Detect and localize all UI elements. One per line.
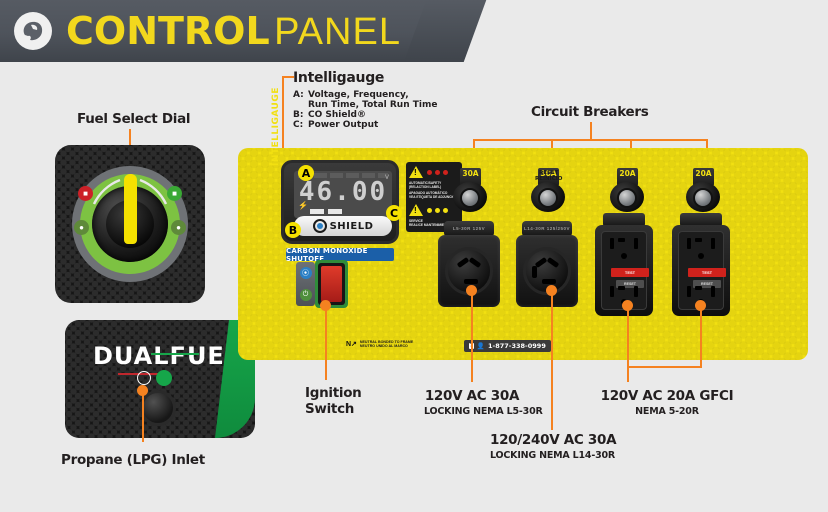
intelligauge-side-label: INTELLIGAUGE	[271, 96, 281, 166]
callout-propane-inlet: Propane (LPG) Inlet	[61, 452, 205, 468]
callout-ignition-switch: Ignition Switch	[305, 385, 362, 417]
callout-ignition-line-1: Ignition	[305, 385, 362, 401]
breaker-knob-2[interactable]	[538, 188, 558, 208]
callout-outlet-gfci: 120V AC 20A GFCI NEMA 5-20R	[597, 388, 737, 417]
dual-fuel-panel: DUALFUEL	[65, 320, 255, 438]
co-shield-brand: SHIELD	[330, 221, 374, 232]
intelligauge-key-c: C:	[293, 120, 308, 130]
intelligauge-item-1: Run Time, Total Run Time	[293, 100, 437, 110]
callout-line-gfci-1	[627, 305, 629, 382]
callout-line-outlet-30a	[471, 290, 473, 382]
warning-triangle-icon	[409, 166, 423, 178]
breaker-knob-3[interactable]	[617, 188, 637, 208]
reset-note-es: REINICIO	[535, 176, 562, 182]
ignition-rocker-button[interactable]	[321, 266, 342, 302]
badge-b: B	[285, 222, 301, 238]
choke-icon: ⦿	[300, 267, 312, 279]
dual-fuel-green-arrow-icon	[151, 353, 199, 355]
outlet-l5-30r[interactable]: L5-30R 125V	[438, 225, 500, 313]
circuit-breaker-3[interactable]: 20A	[610, 172, 644, 212]
page-header: CONTROL PANEL	[0, 0, 445, 62]
neutral-note-es: NEUTRO UNIDO AL MARCO	[360, 344, 413, 348]
lightning-icon: ⚡	[298, 201, 308, 210]
intelligauge-item-0: A: Voltage, Frequency,	[293, 90, 437, 100]
lcd-bar-2	[328, 209, 342, 214]
dual-fuel-logo: DUALFUEL	[93, 342, 241, 370]
warning-dots-row-1	[427, 170, 448, 175]
callout-outlet-gfci-sub: NEMA 5-20R	[597, 406, 737, 417]
dual-fuel-word-2: FUEL	[170, 342, 242, 370]
header-title-light: PANEL	[274, 11, 401, 53]
callout-line-outlet-l14	[551, 290, 553, 430]
brand-logo	[14, 12, 52, 50]
bison-head-icon	[19, 17, 47, 45]
callout-ignition-line-2: Switch	[305, 401, 362, 417]
callout-line-ignition	[325, 305, 327, 380]
callout-line-gfci-join	[627, 366, 702, 368]
person-icon: 👤	[477, 342, 485, 350]
lcd-bar-1	[310, 209, 324, 214]
power-icon: ⏻	[300, 289, 312, 301]
callout-line-propane	[142, 390, 144, 442]
intelligauge-text-a2: Run Time, Total Run Time	[308, 100, 437, 110]
co-shield-mark-icon	[313, 219, 327, 233]
callout-outlet-l14-title: 120/240V AC 30A	[490, 432, 614, 448]
callout-outlet-l14-sub: LOCKING NEMA L14-30R	[490, 450, 614, 461]
callout-line-gfci-2	[700, 305, 702, 367]
warning-text-es-2: VEA ETIQUETA DE ADJUNCIÓN	[409, 195, 459, 199]
control-panel-diagram: CONTROL PANEL Fuel Select Dial Intelliga…	[0, 0, 828, 512]
neutral-ground-icon: N↗	[346, 340, 357, 348]
intelligauge-key-a: A:	[293, 90, 308, 100]
ignition-icon-strip: ⦿ ⏻	[296, 262, 315, 306]
header-title: CONTROL PANEL	[66, 9, 401, 54]
callout-fuel-select-dial: Fuel Select Dial	[77, 111, 190, 127]
badge-a: A	[298, 165, 314, 181]
intelligauge-text-a1: Voltage, Frequency,	[308, 90, 409, 100]
generator-control-panel: INTELLIGAUGE 46.00 V ⚡ SHIELD A B C CARB…	[238, 148, 808, 360]
breaker-knob-4[interactable]	[693, 188, 713, 208]
fuel-dial[interactable]: ■ ■ ● ●	[72, 166, 188, 282]
lcd-value: 46.00	[294, 177, 392, 207]
callout-line-breakers-stem	[590, 122, 592, 140]
callout-outlet-gfci-title: 120V AC 20A GFCI	[597, 388, 737, 404]
outlet-l5-30r-body	[438, 235, 500, 307]
outlet-l14-30r[interactable]: L14-30R 125/250V	[516, 225, 578, 313]
callout-line-breakers-bracket	[473, 139, 707, 141]
header-title-bold: CONTROL	[66, 9, 270, 53]
dual-fuel-icons	[137, 370, 172, 386]
warning-dots-row-2	[427, 208, 448, 213]
fuel-gauge-icon	[137, 371, 151, 385]
intelligauge-item-2: B: CO Shield®	[293, 110, 437, 120]
callout-outlet-30a-sub: LOCKING NEMA L5-30R	[424, 406, 520, 417]
circuit-breaker-1[interactable]: 30A	[453, 172, 487, 212]
badge-c: C	[386, 205, 402, 221]
intelligauge-key-b: B:	[293, 110, 308, 120]
callout-outlet-30a-title: 120V AC 30A	[424, 388, 520, 404]
intelligauge-text-b: CO Shield®	[308, 110, 366, 120]
lcd-unit: V	[385, 175, 389, 181]
callout-outlet-30a: 120V AC 30A LOCKING NEMA L5-30R	[424, 388, 520, 417]
ignition-switch-frame	[315, 260, 348, 308]
dual-fuel-word-1: DUAL	[93, 342, 170, 370]
outlet-l14-30r-body	[516, 235, 578, 307]
ignition-switch-bezel	[318, 263, 345, 305]
callout-outlet-l14: 120/240V AC 30A LOCKING NEMA L14-30R	[490, 432, 614, 461]
support-phone-number: 1-877-338-0999	[488, 342, 546, 350]
breaker-reset-note: RESET REINICIO	[535, 170, 562, 182]
intelligauge-text-c: Power Output	[308, 120, 378, 130]
propane-tank-icon	[156, 370, 172, 386]
breaker-knob-1[interactable]	[460, 188, 480, 208]
service-triangle-icon	[409, 204, 423, 216]
gfci-1-test-button[interactable]: TEST	[611, 268, 649, 277]
callout-intelligauge: Intelligauge A: Voltage, Frequency, Run …	[293, 70, 437, 130]
intelligauge-key-blank	[293, 100, 308, 110]
fuel-select-dial-panel: ■ ■ ● ●	[55, 145, 205, 303]
intelligauge-item-3: C: Power Output	[293, 120, 437, 130]
callout-circuit-breakers: Circuit Breakers	[531, 104, 648, 120]
gfci-2-test-button[interactable]: TEST	[688, 268, 726, 277]
neutral-bonded-note: N↗ NEUTRAL BONDED TO FRAME NEUTRO UNIDO …	[346, 340, 413, 349]
propane-inlet-port[interactable]	[140, 390, 176, 426]
outlet-gfci-1-face[interactable]: TEST RESET	[601, 231, 647, 310]
warning-text-en-2: (REI-ACTION LABEL)	[409, 185, 459, 189]
support-phone-label: ? 👤 1-877-338-0999	[464, 340, 551, 352]
fuel-dial-pointer	[124, 174, 137, 244]
co-shield-logo: SHIELD	[294, 216, 392, 236]
circuit-breaker-4[interactable]: 20A	[686, 172, 720, 212]
outlet-gfci-2-face[interactable]: TEST RESET	[678, 231, 724, 310]
callout-intelligauge-title: Intelligauge	[293, 70, 437, 86]
